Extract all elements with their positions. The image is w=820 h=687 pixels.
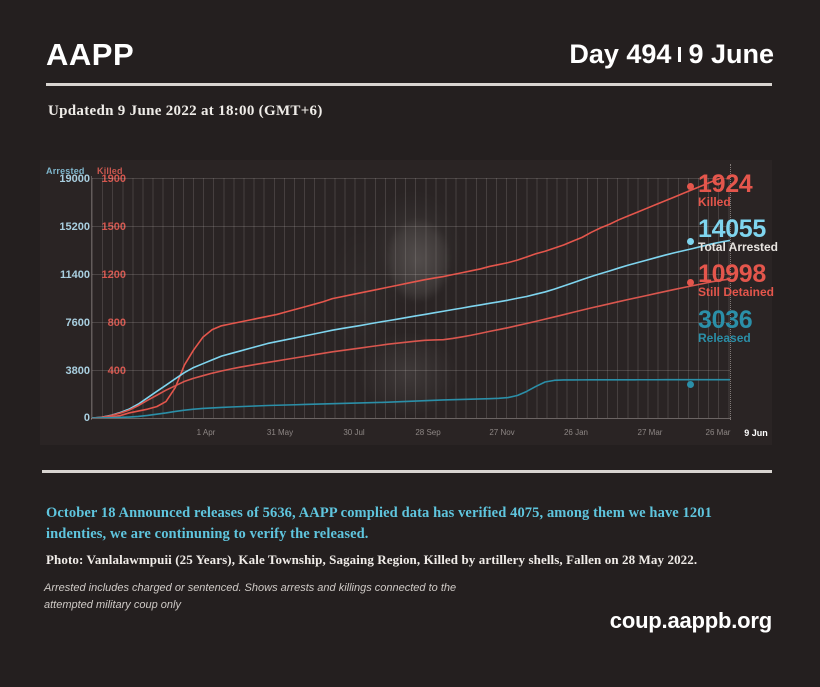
x-axis-tick: 26 Jan xyxy=(564,428,588,437)
stat-still-detained-label: Still Detained xyxy=(698,286,818,299)
left-axis-tick: 3800 xyxy=(40,366,90,377)
stat-killed-value: 1924 xyxy=(698,172,818,197)
left-axis-tick: 15200 xyxy=(40,222,90,233)
footer-divider xyxy=(42,470,772,473)
x-axis-line xyxy=(91,418,731,419)
infographic-page: AAPP Day 494 9 June Updatedn 9 June 2022… xyxy=(0,0,820,687)
day-counter: Day 494 xyxy=(569,41,671,68)
left-axis-tick: 11400 xyxy=(40,270,90,281)
chart-panel: Arrested Killed 19000 15200 11400 7600 3… xyxy=(40,160,772,445)
stat-killed-label: Killed xyxy=(698,196,818,209)
x-axis-tick: 31 May xyxy=(267,428,293,437)
left-axis-tick: 19000 xyxy=(40,174,90,185)
release-note: October 18 Announced releases of 5636, A… xyxy=(46,503,774,544)
stats-block: 1924 Killed 14055 Total Arrested 10998 S… xyxy=(698,172,818,353)
endpoint-dot-detained xyxy=(687,279,694,286)
header-divider xyxy=(46,83,772,86)
left-axis-tick: 0 xyxy=(40,413,90,424)
line-detained xyxy=(92,279,730,418)
x-axis-tick: 26 Mar xyxy=(706,428,731,437)
line-released xyxy=(92,380,730,418)
endpoint-dot-killed xyxy=(687,183,694,190)
updated-timestamp: Updatedn 9 June 2022 at 18:00 (GMT+6) xyxy=(48,103,323,120)
brand-title: AAPP xyxy=(46,39,134,70)
website-url: coup.aappb.org xyxy=(610,608,772,634)
stat-total-arrested: 14055 Total Arrested xyxy=(698,217,818,254)
stat-released: 3036 Released xyxy=(698,308,818,345)
series-lines xyxy=(92,178,730,418)
photo-credit: Photo: Vanlalawmpuii (25 Years), Kale To… xyxy=(46,552,786,568)
methodology-note: Arrested includes charged or sentenced. … xyxy=(44,580,464,613)
stat-still-detained-value: 10998 xyxy=(698,262,818,287)
stat-released-value: 3036 xyxy=(698,308,818,333)
endpoint-dot-arrested xyxy=(687,238,694,245)
stat-total-arrested-value: 14055 xyxy=(698,217,818,242)
stat-released-label: Released xyxy=(698,332,818,345)
x-axis-tick: 27 Mar xyxy=(638,428,663,437)
x-axis-tick-current: 9 Jun xyxy=(744,428,768,438)
endpoint-dot-released xyxy=(687,381,694,388)
x-axis-tick: 28 Sep xyxy=(415,428,440,437)
x-axis-tick: 27 Nov xyxy=(489,428,514,437)
stat-still-detained: 10998 Still Detained xyxy=(698,262,818,299)
header: AAPP Day 494 9 June xyxy=(46,28,774,80)
current-date: 9 June xyxy=(688,41,774,68)
separator-bar xyxy=(678,47,681,62)
line-arrested xyxy=(92,240,730,418)
day-date-header: Day 494 9 June xyxy=(569,41,774,68)
x-axis-tick: 30 Jul xyxy=(343,428,364,437)
stat-total-arrested-label: Total Arrested xyxy=(698,241,818,254)
plot-area xyxy=(92,178,730,418)
x-axis-tick: 1 Apr xyxy=(197,428,216,437)
stat-killed: 1924 Killed xyxy=(698,172,818,209)
left-axis-tick: 7600 xyxy=(40,318,90,329)
